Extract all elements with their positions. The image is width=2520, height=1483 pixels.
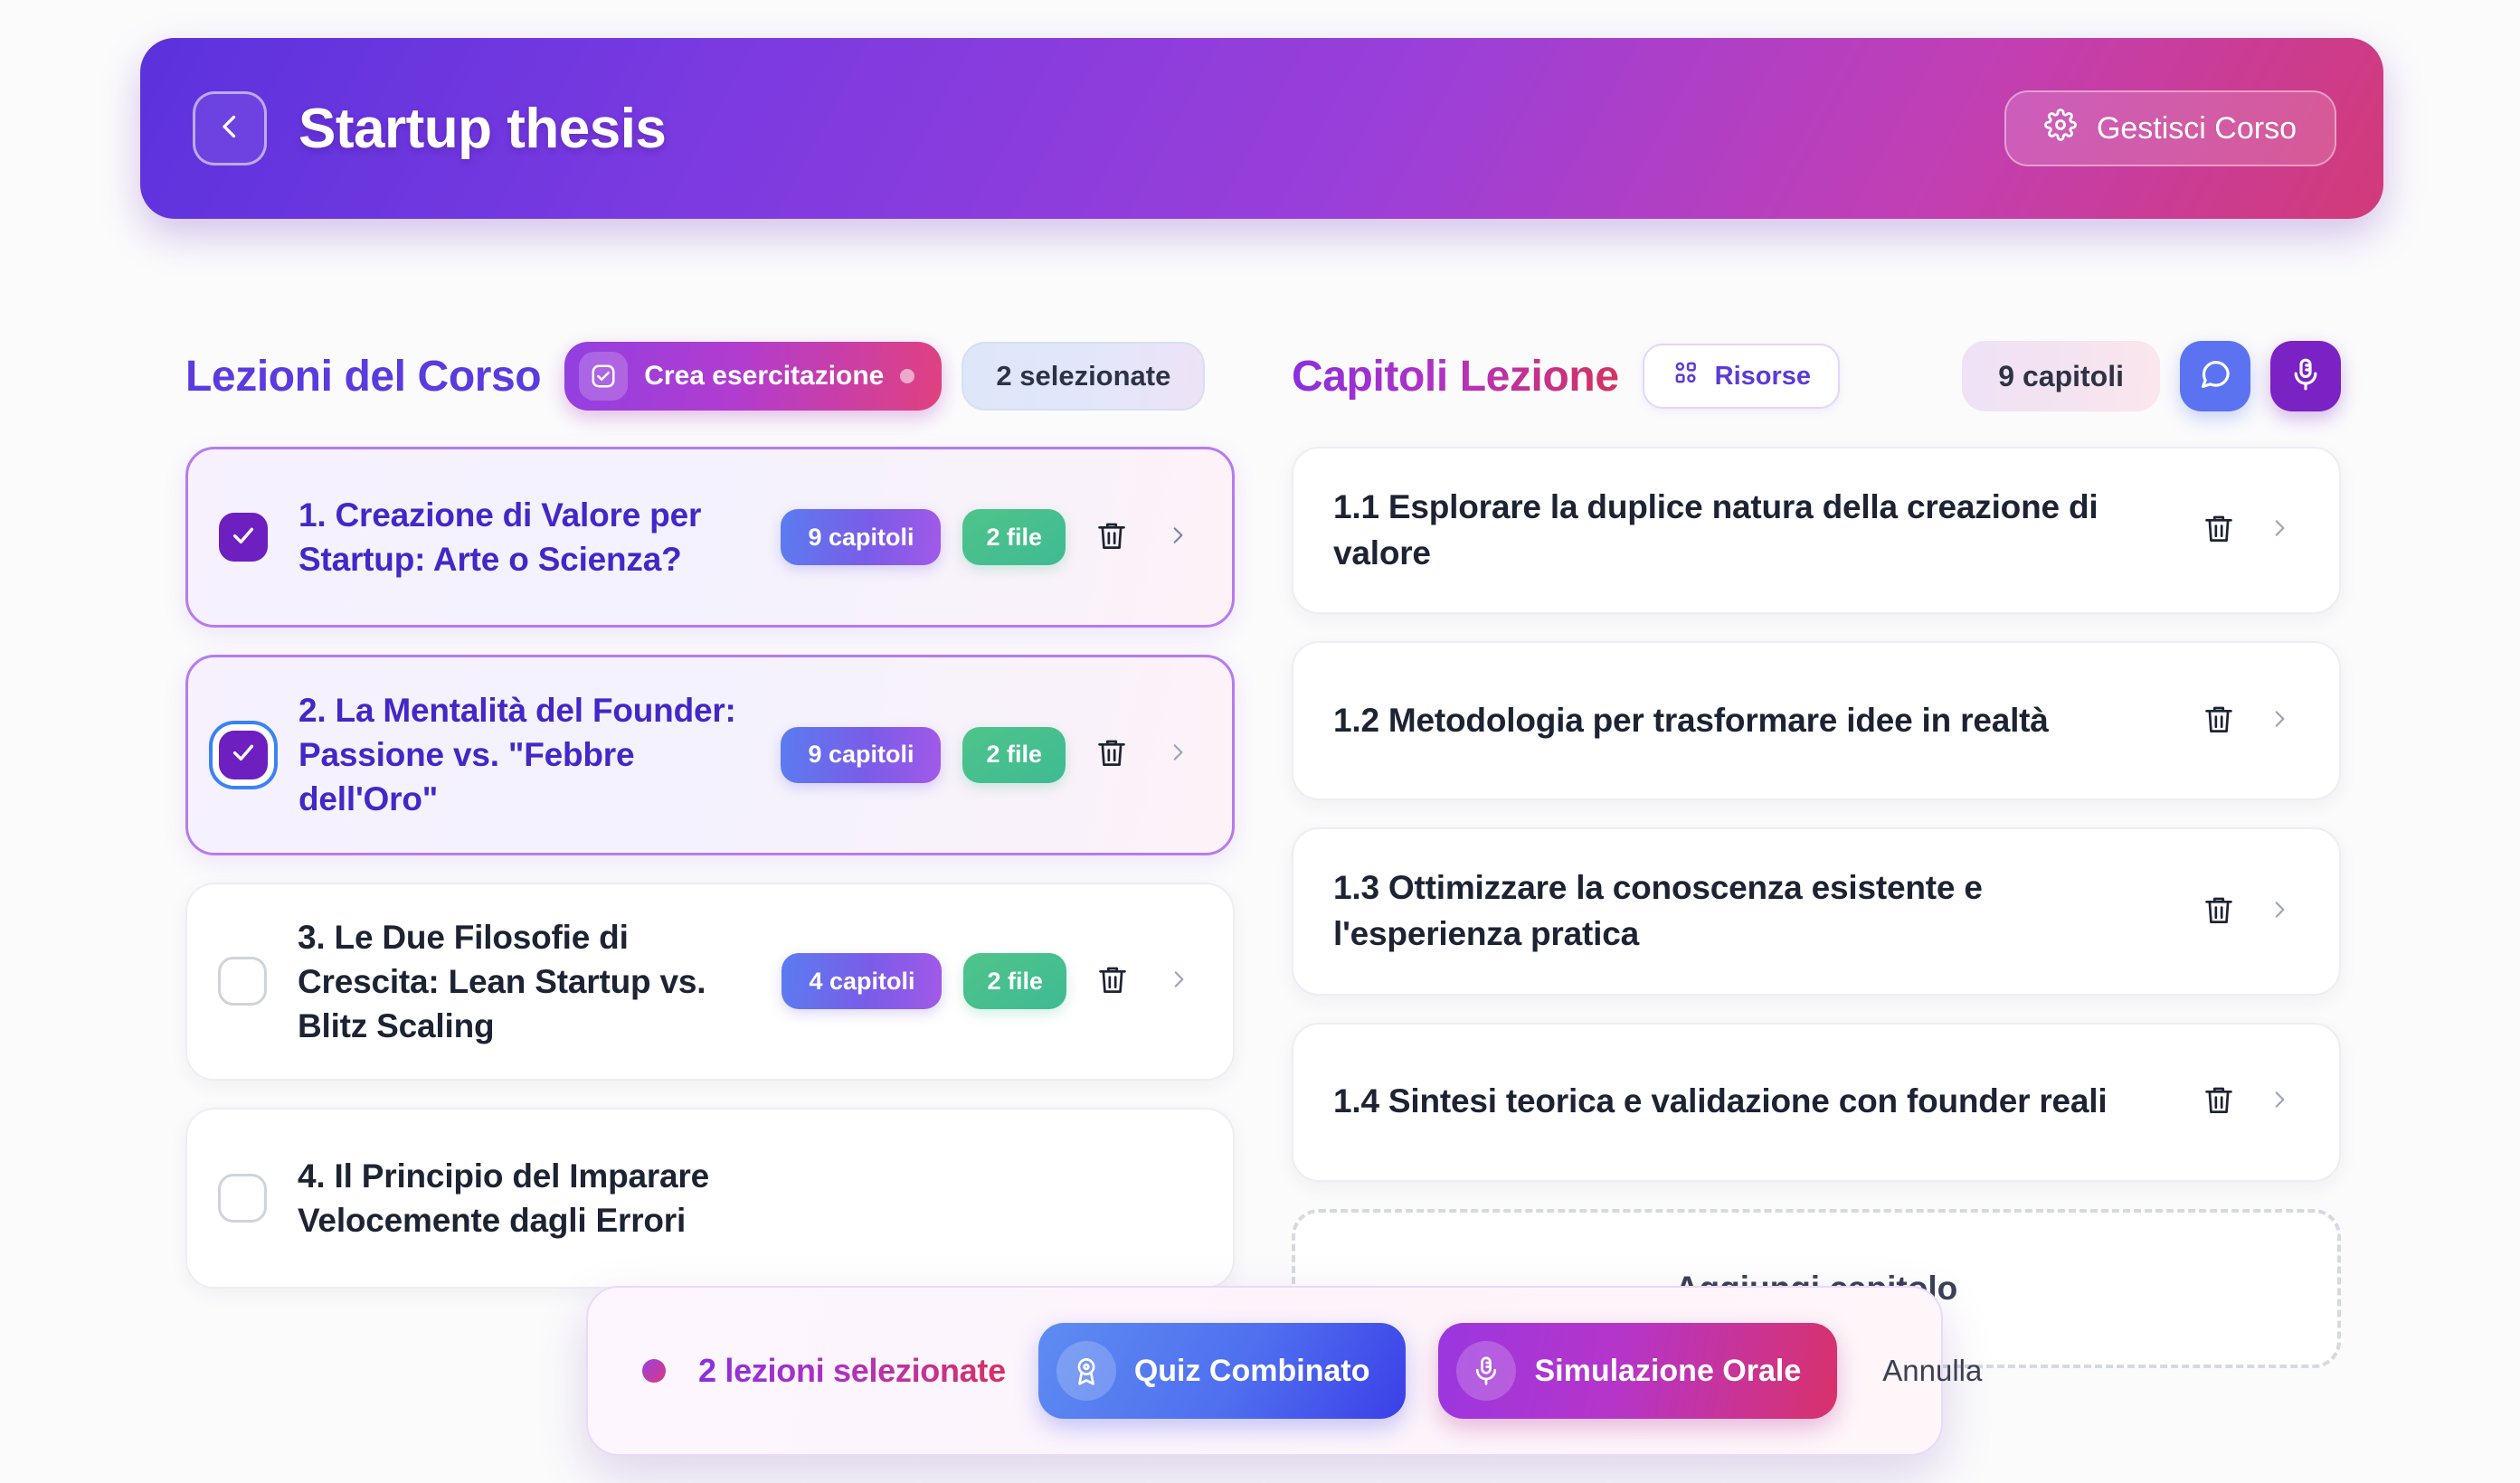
lesson-checkbox[interactable] <box>219 513 268 562</box>
trash-icon <box>1094 733 1129 776</box>
combined-quiz-label: Quiz Combinato <box>1134 1354 1370 1389</box>
oral-simulation-label: Simulazione Orale <box>1534 1354 1801 1389</box>
chapter-card[interactable]: 1.3 Ottimizzare la conoscenza esistente … <box>1292 827 2341 995</box>
delete-chapter-button[interactable] <box>2194 885 2243 938</box>
chevron-right-icon <box>1167 964 1190 999</box>
delete-chapter-button[interactable] <box>2194 694 2243 747</box>
trash-icon <box>1094 516 1129 559</box>
chat-button[interactable] <box>2180 341 2250 411</box>
lesson-title: 4. Il Principio del Imparare Velocemente… <box>298 1154 741 1242</box>
chapters-header-actions: 9 capitoli <box>1962 341 2341 411</box>
chapter-title: 1.2 Metodologia per trasformare idee in … <box>1333 698 2194 744</box>
lesson-meta: 4 capitoli 2 file <box>782 953 1198 1009</box>
delete-lesson-button[interactable] <box>1087 511 1136 563</box>
lesson-checkbox[interactable] <box>218 1174 267 1223</box>
selection-count-label: 2 lezioni selezionate <box>698 1352 1006 1390</box>
lesson-card[interactable]: 4. Il Principio del Imparare Velocemente… <box>185 1108 1235 1289</box>
chevron-right-icon <box>2268 704 2291 739</box>
selection-action-bar: 2 lezioni selezionate Quiz Combinato Sim… <box>586 1286 1943 1456</box>
page-title: Startup thesis <box>298 97 666 161</box>
chevron-right-icon <box>2268 513 2291 548</box>
oral-simulation-action-button[interactable]: Simulazione Orale <box>1438 1323 1837 1419</box>
lesson-files-badge: 2 file <box>962 509 1066 565</box>
chapter-actions <box>2194 505 2299 557</box>
delete-lesson-button[interactable] <box>1087 729 1136 781</box>
lessons-panel-header: Lezioni del Corso Crea esercitazione 2 s… <box>185 335 1235 418</box>
create-exercise-label: Crea esercitazione <box>644 361 884 392</box>
chapters-count-badge[interactable]: 9 capitoli <box>1962 341 2160 411</box>
lesson-chapters-badge: 9 capitoli <box>781 727 941 783</box>
lesson-files-badge: 2 file <box>963 953 1066 1009</box>
cancel-selection-button[interactable]: Annulla <box>1882 1354 1982 1388</box>
check-icon <box>229 738 258 771</box>
trash-icon <box>2202 891 2236 933</box>
lesson-meta: 9 capitoli 2 file <box>781 727 1198 783</box>
chapter-actions <box>2194 885 2299 938</box>
trash-icon <box>2202 700 2236 742</box>
award-badge-icon <box>1056 1341 1116 1401</box>
resources-button[interactable]: Risorse <box>1643 344 1840 409</box>
grid-icon <box>1672 358 1701 394</box>
manage-course-label: Gestisci Corso <box>2097 111 2297 146</box>
lesson-card[interactable]: 2. La Mentalità del Founder: Passione vs… <box>185 655 1235 855</box>
checkbox-check-icon <box>579 352 628 401</box>
lesson-title: 1. Creazione di Valore per Startup: Arte… <box>298 493 742 581</box>
open-lesson-button[interactable] <box>1159 957 1198 1006</box>
delete-chapter-button[interactable] <box>2194 1076 2243 1129</box>
chapter-title: 1.3 Ottimizzare la conoscenza esistente … <box>1333 865 2194 957</box>
open-chapter-button[interactable] <box>2259 696 2299 745</box>
lesson-files-badge: 2 file <box>962 727 1066 783</box>
lesson-meta: 9 capitoli 2 file <box>781 509 1198 565</box>
chapter-card[interactable]: 1.2 Metodologia per trasformare idee in … <box>1292 641 2341 800</box>
chapters-panel-header: Capitoli Lezione Risorse 9 capitoli <box>1292 335 2341 418</box>
delete-chapter-button[interactable] <box>2194 505 2243 557</box>
combined-quiz-button[interactable]: Quiz Combinato <box>1038 1323 1407 1419</box>
lesson-title: 2. La Mentalità del Founder: Passione vs… <box>298 688 742 822</box>
open-chapter-button[interactable] <box>2259 887 2299 936</box>
chapter-actions <box>2194 1076 2299 1129</box>
lesson-checkbox[interactable] <box>219 731 268 779</box>
check-icon <box>229 521 258 554</box>
selected-count-badge[interactable]: 2 selezionate <box>962 342 1205 411</box>
lessons-panel-title: Lezioni del Corso <box>185 352 541 401</box>
trash-icon <box>2202 1081 2236 1123</box>
gear-icon <box>2044 109 2077 149</box>
resources-label: Risorse <box>1715 362 1811 392</box>
lessons-list: 1. Creazione di Valore per Startup: Arte… <box>185 447 1235 1289</box>
microphone-icon <box>1456 1341 1516 1401</box>
chapter-card[interactable]: 1.1 Esplorare la duplice natura della cr… <box>1292 447 2341 614</box>
chevron-right-icon <box>1166 737 1189 772</box>
chapters-panel: Capitoli Lezione Risorse 9 capitoli <box>1292 335 2341 1368</box>
chapters-panel-title: Capitoli Lezione <box>1292 352 1619 401</box>
lesson-chapters-badge: 4 capitoli <box>782 953 942 1009</box>
lesson-card[interactable]: 3. Le Due Filosofie di Crescita: Lean St… <box>185 883 1235 1082</box>
header-left-group: Startup thesis <box>193 91 666 165</box>
chat-bubble-icon <box>2197 356 2233 397</box>
lesson-title: 3. Le Due Filosofie di Crescita: Lean St… <box>298 915 741 1049</box>
open-lesson-button[interactable] <box>1158 731 1198 779</box>
chapter-actions <box>2194 694 2299 747</box>
open-chapter-button[interactable] <box>2259 1078 2299 1127</box>
lesson-checkbox[interactable] <box>218 957 267 1006</box>
chapter-title: 1.1 Esplorare la duplice natura della cr… <box>1333 485 2194 576</box>
chevron-right-icon <box>1166 520 1189 555</box>
chapters-list: 1.1 Esplorare la duplice natura della cr… <box>1292 447 2341 1368</box>
chapter-card[interactable]: 1.4 Sintesi teorica e validazione con fo… <box>1292 1023 2341 1182</box>
chevron-right-icon <box>2268 894 2291 930</box>
page-header: Startup thesis Gestisci Corso <box>140 38 2383 219</box>
microphone-icon <box>2288 356 2324 397</box>
lessons-panel: Lezioni del Corso Crea esercitazione 2 s… <box>185 335 1235 1289</box>
back-button[interactable] <box>193 91 267 165</box>
status-dot-icon <box>900 369 914 383</box>
manage-course-button[interactable]: Gestisci Corso <box>2004 90 2336 166</box>
trash-icon <box>2202 509 2236 552</box>
open-chapter-button[interactable] <box>2259 506 2299 555</box>
app-root: Startup thesis Gestisci Corso Lezioni de… <box>0 0 2520 1483</box>
chapter-title: 1.4 Sintesi teorica e validazione con fo… <box>1333 1079 2194 1125</box>
selection-dot-icon <box>642 1359 666 1383</box>
chevron-left-icon <box>213 110 246 147</box>
open-lesson-button[interactable] <box>1158 513 1198 562</box>
lesson-card[interactable]: 1. Creazione di Valore per Startup: Arte… <box>185 447 1235 628</box>
trash-icon <box>1095 960 1130 1003</box>
lesson-chapters-badge: 9 capitoli <box>781 509 941 565</box>
chevron-right-icon <box>2268 1084 2291 1119</box>
create-exercise-button[interactable]: Crea esercitazione <box>564 342 942 411</box>
delete-lesson-button[interactable] <box>1088 955 1137 1007</box>
oral-simulation-button[interactable] <box>2270 341 2341 411</box>
